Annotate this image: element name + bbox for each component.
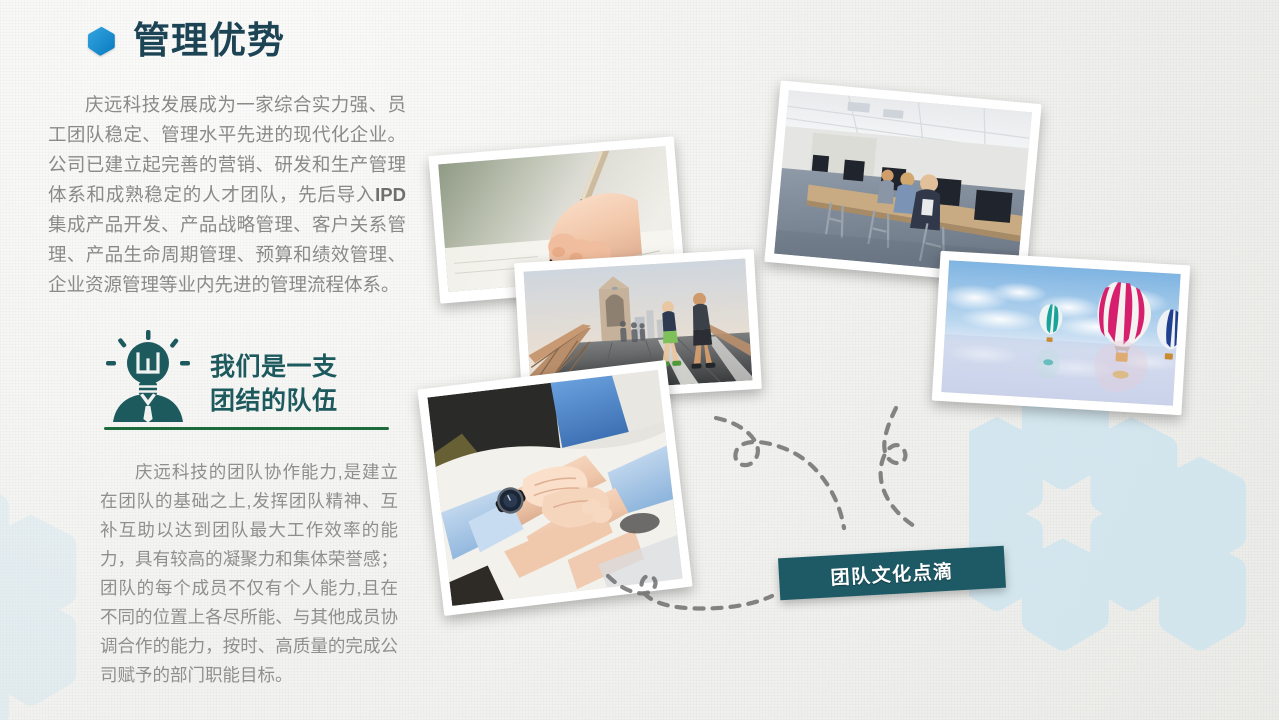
feature-heading-line-1: 我们是一支 — [210, 350, 338, 384]
intro-paragraph-keyword: IPD — [375, 184, 406, 205]
photo-hot-air-balloons-image — [941, 260, 1180, 406]
hexagon-icon — [88, 26, 115, 56]
culture-banner-label: 团队文化点滴 — [830, 556, 954, 590]
photo-team-hands[interactable] — [417, 360, 692, 616]
photo-team-hands-image — [427, 370, 682, 606]
feature-heading: 我们是一支 团结的队伍 — [210, 350, 338, 422]
photo-office-workstations-image — [774, 90, 1032, 275]
feature-block: 我们是一支 团结的队伍 — [104, 330, 394, 430]
slide-canvas: 管理优势 庆远科技发展成为一家综合实力强、员工团队稳定、管理水平先进的现代化企业… — [0, 0, 1279, 720]
hexagon-pattern-right — [969, 380, 1279, 720]
photo-hot-air-balloons[interactable] — [932, 251, 1190, 416]
feature-heading-line-2: 团结的队伍 — [210, 384, 338, 418]
intro-paragraph-part-1: 庆远科技发展成为一家综合实力强、员工团队稳定、管理水平先进的现代化企业。公司已建… — [48, 94, 406, 205]
intro-paragraph-part-3: 集成产品开发、产品战略管理、客户关系管理、产品生命周期管理、预算和绩效管理、企业… — [48, 214, 406, 295]
feature-divider — [104, 427, 389, 430]
intro-paragraph: 庆远科技发展成为一家综合实力强、员工团队稳定、管理水平先进的现代化企业。公司已建… — [48, 90, 406, 300]
page-header: 管理优势 — [88, 22, 285, 59]
page-title: 管理优势 — [133, 22, 285, 59]
teamwork-paragraph: 庆远科技的团队协作能力,是建立在团队的基础之上,发挥团队精神、互补互助以达到团队… — [100, 458, 398, 690]
lightbulb-person-icon — [104, 330, 192, 422]
culture-banner[interactable]: 团队文化点滴 — [778, 546, 1006, 601]
